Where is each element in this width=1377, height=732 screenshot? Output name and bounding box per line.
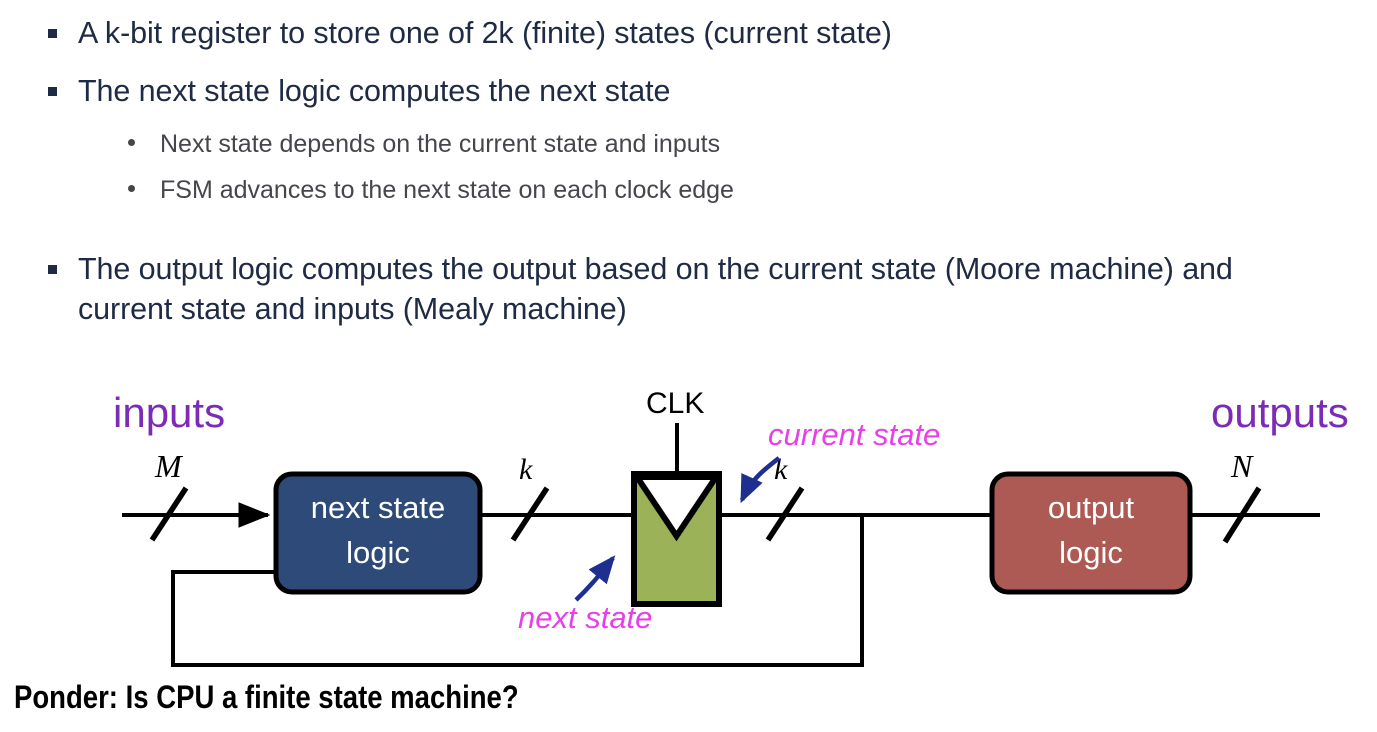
square-bullet-icon [48, 265, 57, 274]
bullet-item-1: A k-bit register to store one of 2k (fin… [0, 14, 892, 54]
block-output-logic[interactable]: output logic [992, 474, 1190, 592]
sub-bullet-2-text: FSM advances to the next state on each c… [160, 176, 734, 204]
label-m-width: M [154, 448, 184, 484]
bullet-2-text: The next state logic computes the next s… [78, 74, 670, 108]
label-outputs: outputs [1211, 389, 1349, 436]
arrow-next-state [576, 558, 613, 600]
annotation-current-state: current state [768, 417, 940, 452]
output-logic-label-line2: logic [1059, 535, 1123, 570]
bullet-item-2: The next state logic computes the next s… [0, 72, 670, 112]
block-state-register[interactable] [634, 474, 719, 604]
fsm-block-diagram: next state logic output logic inputs out… [0, 360, 1377, 680]
label-inputs: inputs [113, 389, 225, 436]
slide-canvas: A k-bit register to store one of 2k (fin… [0, 0, 1377, 732]
annotation-next-state: next state [518, 600, 652, 635]
label-k-left: k [519, 453, 533, 486]
square-bullet-icon [48, 29, 57, 38]
square-bullet-icon [48, 87, 57, 96]
ponder-question: Ponder: Is CPU a finite state machine? [14, 679, 519, 716]
bullet-item-3: The output logic computes the output bas… [0, 250, 1278, 329]
bullet-1-text: A k-bit register to store one of 2k (fin… [78, 16, 892, 50]
label-clk: CLK [646, 387, 704, 420]
sub-bullet-item-2: FSM advances to the next state on each c… [0, 174, 734, 206]
next-state-logic-label-line1: next state [311, 490, 445, 525]
block-next-state-logic[interactable]: next state logic [276, 474, 480, 592]
label-n-width: N [1230, 448, 1254, 484]
round-bullet-icon [128, 139, 135, 146]
bullet-3-text: The output logic computes the output bas… [78, 252, 1233, 326]
sub-bullet-1-text: Next state depends on the current state … [160, 130, 720, 158]
round-bullet-icon [128, 185, 135, 192]
sub-bullet-item-1: Next state depends on the current state … [0, 128, 720, 160]
next-state-logic-label-line2: logic [346, 535, 410, 570]
output-logic-label-line1: output [1048, 490, 1135, 525]
